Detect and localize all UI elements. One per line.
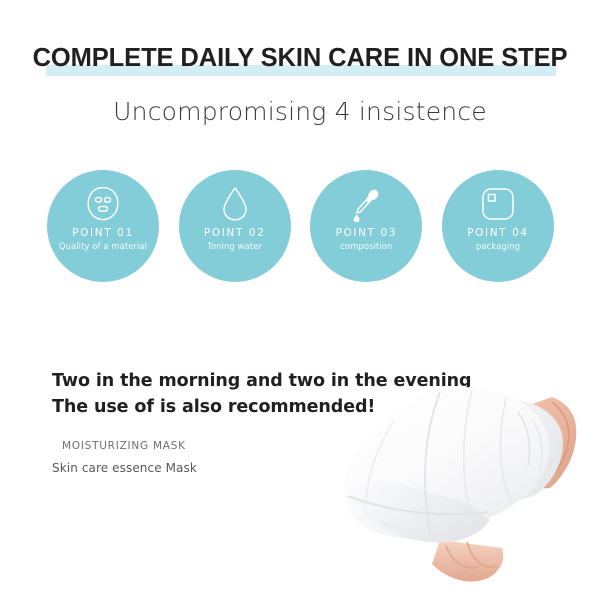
promo-page: COMPLETE DAILY SKIN CARE IN ONE STEP Unc… [0, 0, 600, 600]
page-title: COMPLETE DAILY SKIN CARE IN ONE STEP [0, 44, 600, 73]
point-label: POINT 04 [467, 227, 528, 239]
water-droplet-icon [215, 184, 255, 224]
product-name: MOISTURIZING MASK [62, 440, 186, 452]
page-title-block: COMPLETE DAILY SKIN CARE IN ONE STEP [0, 44, 600, 84]
point-label: POINT 01 [72, 227, 133, 239]
point-label: POINT 02 [204, 227, 265, 239]
points-row: POINT 01 Quality of a material POINT 02 … [47, 170, 554, 282]
point-description: Quality of a material [59, 241, 147, 251]
point-description: composition [340, 241, 392, 251]
face-sheet-mask-icon [83, 184, 123, 224]
point-item-01[interactable]: POINT 01 Quality of a material [47, 170, 159, 282]
pouch-package-icon [478, 184, 518, 224]
dropper-pipette-icon [346, 184, 386, 224]
product-photo [320, 372, 600, 600]
point-description: Toning water [207, 241, 262, 251]
point-label: POINT 03 [336, 227, 397, 239]
product-subtitle: Skin care essence Mask [52, 461, 197, 475]
point-description: packaging [476, 241, 520, 251]
point-item-03[interactable]: POINT 03 composition [310, 170, 422, 282]
page-subtitle: Uncompromising 4 insistence [0, 97, 600, 126]
point-item-02[interactable]: POINT 02 Toning water [179, 170, 291, 282]
point-item-04[interactable]: POINT 04 packaging [442, 170, 554, 282]
